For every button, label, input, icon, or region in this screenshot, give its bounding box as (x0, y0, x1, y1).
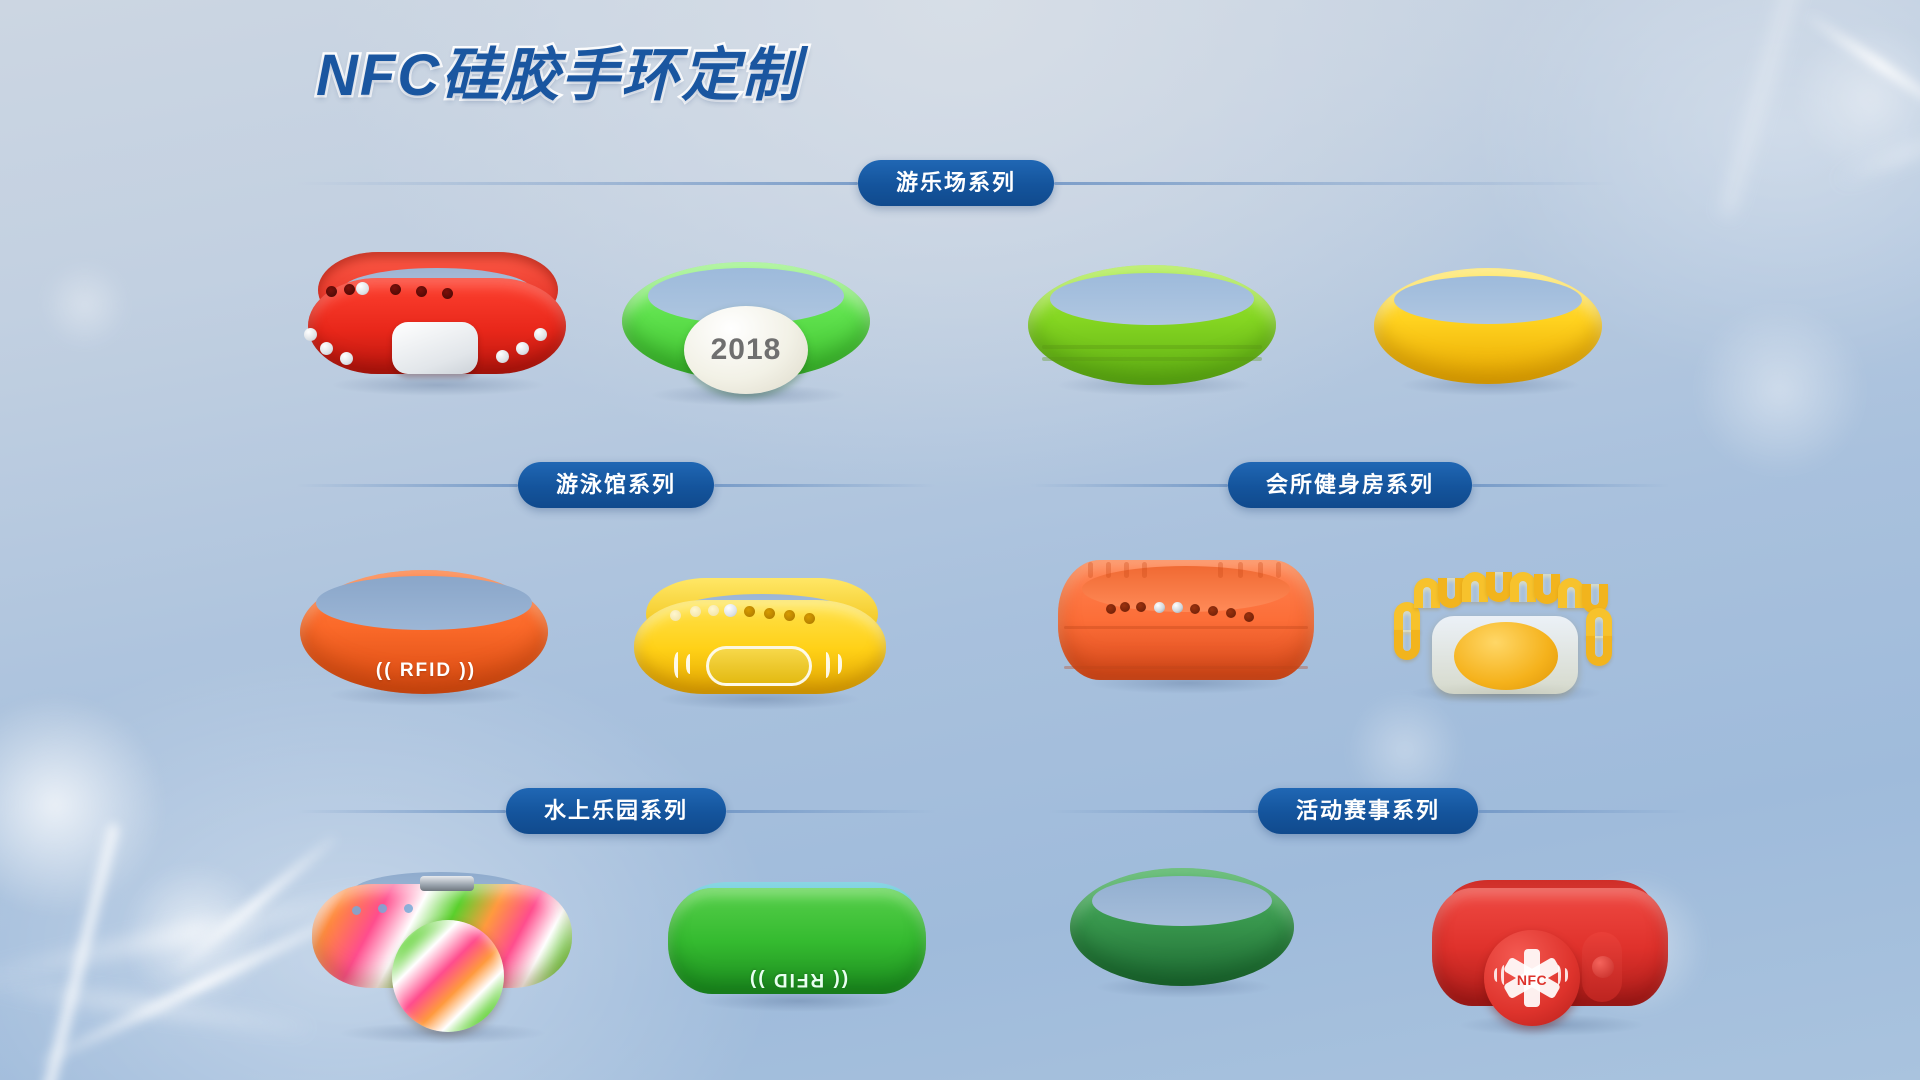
header-rule-left (296, 484, 518, 487)
band-wave-segment (1586, 636, 1612, 666)
band-hole (804, 613, 815, 624)
page-title: NFC硅胶手环定制 (316, 28, 801, 112)
band-wave-segment (1462, 572, 1488, 602)
product-orange-studded-gym-band[interactable] (1058, 560, 1318, 688)
nfc-signal-icon (1560, 968, 1568, 982)
product-shadow (330, 374, 545, 396)
nfc-tag-disc: NFC (1484, 930, 1580, 1026)
nfc-wave-icon (820, 652, 830, 678)
band-opening (1394, 276, 1582, 324)
product-green-oval-tag-band[interactable]: 2018 (622, 258, 874, 400)
band-hole (1244, 612, 1254, 622)
nfc-wave-icon (686, 654, 696, 674)
band-hole (390, 284, 401, 295)
band-rib (1238, 562, 1243, 578)
band-metal-stud (1172, 602, 1183, 613)
header-rule-right (1472, 484, 1670, 487)
product-yellow-nfc-sport-band[interactable] (628, 578, 890, 704)
header-rule-left (296, 810, 506, 813)
band-hole (670, 610, 681, 621)
section-pill-amusement-park[interactable]: 游乐场系列 (858, 160, 1054, 206)
band-wave-segment (1394, 630, 1420, 660)
band-opening (1092, 876, 1272, 926)
band-hole (378, 904, 387, 913)
product-dark-green-plain-band[interactable] (1070, 868, 1298, 992)
product-tie-dye-disc-band[interactable] (308, 862, 576, 1038)
band-hole (764, 608, 775, 619)
band-wave-segment (1510, 572, 1536, 602)
band-hole (1136, 602, 1146, 612)
product-orange-rfid-loop-band[interactable]: (( RFID )) (300, 570, 552, 700)
rfid-marking-text: (( RFID )) (352, 660, 500, 682)
band-hole (1106, 604, 1116, 614)
nfc-tag-disc (392, 920, 504, 1032)
frosted-branch-decor (0, 977, 309, 1035)
section-pill-club-gym[interactable]: 会所健身房系列 (1228, 462, 1472, 508)
nfc-signal-icon (1553, 965, 1561, 985)
nfc-tag-badge (392, 322, 478, 374)
band-wave-segment (1558, 578, 1584, 608)
section-header-water-park: 水上乐园系列 (296, 788, 936, 834)
bokeh-decor (1790, 20, 1920, 180)
band-stud (356, 282, 369, 295)
band-hole (344, 284, 355, 295)
band-rib (1258, 562, 1263, 578)
band-ridge (1042, 357, 1262, 361)
poster-canvas: NFC硅胶手环定制 游乐场系列 2018 (0, 0, 1920, 1080)
band-wave-segment (1438, 578, 1464, 608)
nfc-tag-oval: 2018 (684, 306, 808, 394)
band-stud (340, 352, 353, 365)
band-hole (690, 606, 701, 617)
header-rule-left (1048, 810, 1258, 813)
rfid-marking-text: (( RFID )) (718, 968, 878, 990)
band-tab-dot (1592, 956, 1614, 978)
band-hole (442, 288, 453, 299)
band-seam (1064, 666, 1308, 669)
header-rule-right (1054, 182, 1616, 185)
band-hole (416, 286, 427, 297)
section-header-amusement-park: 游乐场系列 (296, 160, 1616, 206)
product-lime-plain-closed-band[interactable] (1028, 265, 1280, 390)
band-rib (1106, 562, 1111, 578)
product-yellow-plain-closed-band[interactable] (1374, 268, 1606, 390)
header-rule-left (1030, 484, 1228, 487)
frosted-branch-decor (1719, 0, 1804, 217)
product-green-teal-rfid-slotted-band[interactable]: (( RFID )) (668, 882, 930, 1006)
band-hole (404, 904, 413, 913)
bokeh-decor (0, 690, 170, 920)
band-metal-stud (1154, 602, 1165, 613)
band-rib (1124, 562, 1129, 578)
band-wave-segment (1534, 574, 1560, 604)
band-hole (784, 610, 795, 621)
band-rib (1142, 562, 1147, 578)
frosted-branch-decor (34, 823, 122, 1080)
band-stud (724, 604, 737, 617)
band-stud (320, 342, 333, 355)
nfc-signal-icon (1501, 965, 1509, 985)
band-opening (1050, 273, 1254, 325)
band-ridge (1042, 345, 1262, 349)
band-rib (1218, 562, 1223, 578)
header-rule-left (296, 182, 858, 185)
band-hole (1190, 604, 1200, 614)
bokeh-decor (40, 260, 130, 350)
frosted-branch-decor (1834, 122, 1920, 187)
nfc-wave-icon (674, 652, 684, 678)
band-hole (1120, 602, 1130, 612)
section-header-swimming-pool: 游泳馆系列 (296, 462, 936, 508)
band-hole (744, 606, 755, 617)
band-hole (1208, 606, 1218, 616)
band-hole (708, 605, 719, 616)
product-yellow-wavy-watch-band[interactable] (1380, 550, 1630, 698)
bokeh-decor (1690, 300, 1870, 480)
bokeh-decor (120, 860, 270, 1010)
header-rule-right (714, 484, 936, 487)
header-rule-right (726, 810, 936, 813)
product-red-adjustable-nfc-watch-band[interactable] (300, 250, 576, 390)
band-seam (1064, 626, 1308, 629)
band-hole (1226, 608, 1236, 618)
section-header-events: 活动赛事系列 (1048, 788, 1688, 834)
band-wave-segment (1486, 572, 1512, 602)
section-pill-water-park[interactable]: 水上乐园系列 (506, 788, 726, 834)
product-red-medical-nfc-slap-band[interactable]: NFC (1432, 880, 1672, 1030)
frosted-branch-decor (1803, 11, 1920, 120)
band-opening (316, 576, 532, 630)
header-rule-right (1478, 810, 1688, 813)
section-header-club-gym: 会所健身房系列 (1030, 462, 1670, 508)
section-pill-events[interactable]: 活动赛事系列 (1258, 788, 1478, 834)
nfc-tag-plate (706, 646, 812, 686)
band-stud (534, 328, 547, 341)
band-wave-segment (1414, 578, 1440, 608)
nfc-wave-icon (832, 654, 842, 674)
band-stud (304, 328, 317, 341)
section-pill-swimming-pool[interactable]: 游泳馆系列 (518, 462, 714, 508)
band-stud (496, 350, 509, 363)
band-wave-segment (1586, 608, 1612, 638)
tag-text: 2018 (711, 333, 782, 367)
band-hole (352, 906, 361, 915)
band-buckle (420, 876, 474, 891)
band-rib (1088, 562, 1093, 578)
nfc-label-text: NFC (1517, 972, 1547, 988)
band-rib (1276, 562, 1281, 578)
nfc-tag-oval (1454, 622, 1558, 690)
band-stud (516, 342, 529, 355)
band-hole (326, 286, 337, 297)
